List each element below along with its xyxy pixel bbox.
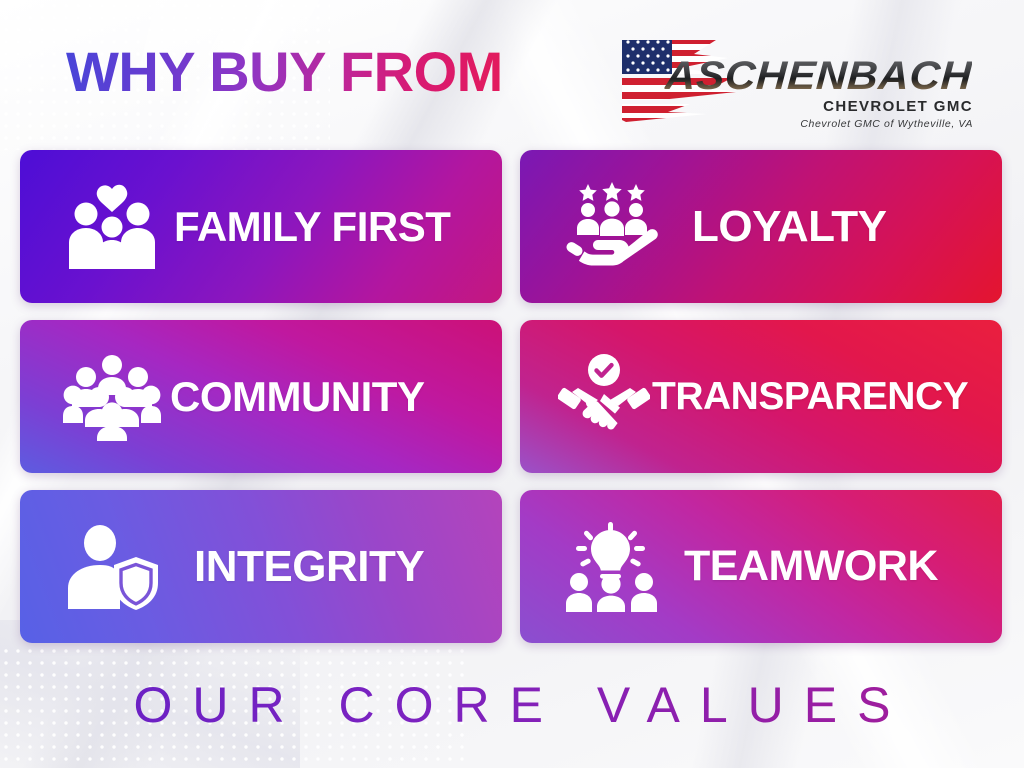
value-card-community[interactable]: COMMUNITY — [20, 320, 502, 473]
handshake-check-icon — [556, 347, 652, 447]
logo-wordmark: ASCHENBACH — [664, 54, 973, 99]
value-card-transparency[interactable]: TRANSPARENCY — [520, 320, 1002, 473]
people-group-icon — [58, 347, 166, 447]
logo-subtitle: CHEVROLET GMC — [823, 98, 973, 115]
footer-tagline: OUR CORE VALUES — [114, 676, 911, 734]
family-heart-icon — [58, 177, 166, 277]
value-card-family-first[interactable]: FAMILY FIRST — [20, 150, 502, 303]
value-card-teamwork[interactable]: TEAMWORK — [520, 490, 1002, 643]
page-title: WHY BUY FROM — [66, 36, 503, 108]
person-shield-icon — [58, 517, 166, 617]
lightbulb-team-icon — [558, 517, 666, 617]
value-card-label: COMMUNITY — [170, 373, 424, 421]
core-values-grid: FAMILY FIRST LOYALTY — [20, 150, 1008, 650]
value-card-integrity[interactable]: INTEGRITY — [20, 490, 502, 643]
logo-tagline: Chevrolet GMC of Wytheville, VA — [800, 118, 973, 130]
footer: OUR CORE VALUES — [0, 665, 1024, 745]
value-card-label: FAMILY FIRST — [174, 203, 450, 251]
hand-holding-people-stars-icon — [558, 177, 666, 277]
value-card-label: INTEGRITY — [194, 542, 424, 592]
dealership-logo: ASCHENBACH CHEVROLET GMC Chevrolet GMC o… — [615, 28, 975, 133]
value-card-label: TEAMWORK — [684, 542, 938, 591]
value-card-label: TRANSPARENCY — [652, 375, 968, 419]
value-card-loyalty[interactable]: LOYALTY — [520, 150, 1002, 303]
value-card-label: LOYALTY — [692, 202, 887, 252]
